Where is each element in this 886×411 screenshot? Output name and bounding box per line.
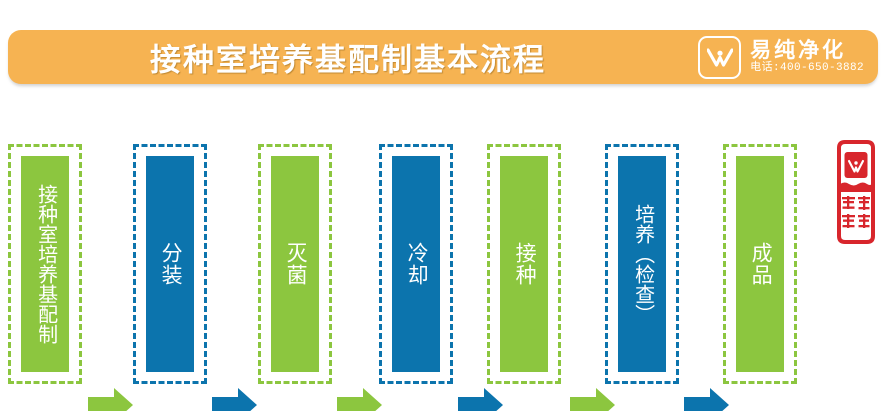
flow-arrow-5-green — [570, 386, 616, 411]
process-flow: 接种室培养基配制 分装 灭菌 — [0, 138, 886, 388]
flow-node-4-label: 冷却 — [405, 242, 427, 286]
flow-node-5[interactable]: 接种 — [487, 144, 561, 384]
brand-text: 易纯净化 电话:400-650-3882 — [750, 40, 864, 75]
flow-node-6-fill: 培养（检查） — [618, 156, 666, 372]
flow-node-4[interactable]: 冷却 — [379, 144, 453, 384]
flow-node-2-label: 分装 — [159, 242, 181, 286]
brand-phone: 电话:400-650-3882 — [750, 63, 864, 75]
flow-node-2-fill: 分装 — [146, 156, 194, 372]
flow-node-3-label: 灭菌 — [284, 242, 306, 286]
brand-block: 易纯净化 电话:400-650-3882 — [698, 35, 864, 79]
flow-arrow-6-blue — [684, 386, 730, 411]
flow-arrow-1-green — [88, 386, 134, 411]
flow-node-7-fill: 成品 — [736, 156, 784, 372]
flow-node-5-fill: 接种 — [500, 156, 548, 372]
flow-arrow-4-blue — [458, 386, 504, 411]
flow-node-1-label: 接种室培养基配制 — [34, 184, 55, 344]
flow-node-6[interactable]: 培养（检查） — [605, 144, 679, 384]
infographic-canvas: 接种室培养基配制基本流程 易纯净化 电话:400-650-3882 接种室培养基… — [0, 0, 886, 411]
flow-node-1[interactable]: 接种室培养基配制 — [8, 144, 82, 384]
header-banner: 接种室培养基配制基本流程 易纯净化 电话:400-650-3882 — [8, 30, 878, 84]
flow-node-3[interactable]: 灭菌 — [258, 144, 332, 384]
flow-node-5-label: 接种 — [513, 242, 535, 286]
company-seal-stamp-icon — [832, 140, 880, 245]
flow-node-1-fill: 接种室培养基配制 — [21, 156, 69, 372]
flow-node-7-label: 成品 — [749, 242, 771, 286]
flow-node-4-fill: 冷却 — [392, 156, 440, 372]
flow-node-6-label: 培养（检查） — [631, 204, 652, 324]
flow-node-7[interactable]: 成品 — [723, 144, 797, 384]
flow-node-3-fill: 灭菌 — [271, 156, 319, 372]
flow-arrow-2-blue — [212, 386, 258, 411]
w-monogram-icon — [698, 36, 741, 79]
flow-arrow-3-green — [337, 386, 383, 411]
flow-node-2[interactable]: 分装 — [133, 144, 207, 384]
brand-name: 易纯净化 — [750, 40, 864, 62]
